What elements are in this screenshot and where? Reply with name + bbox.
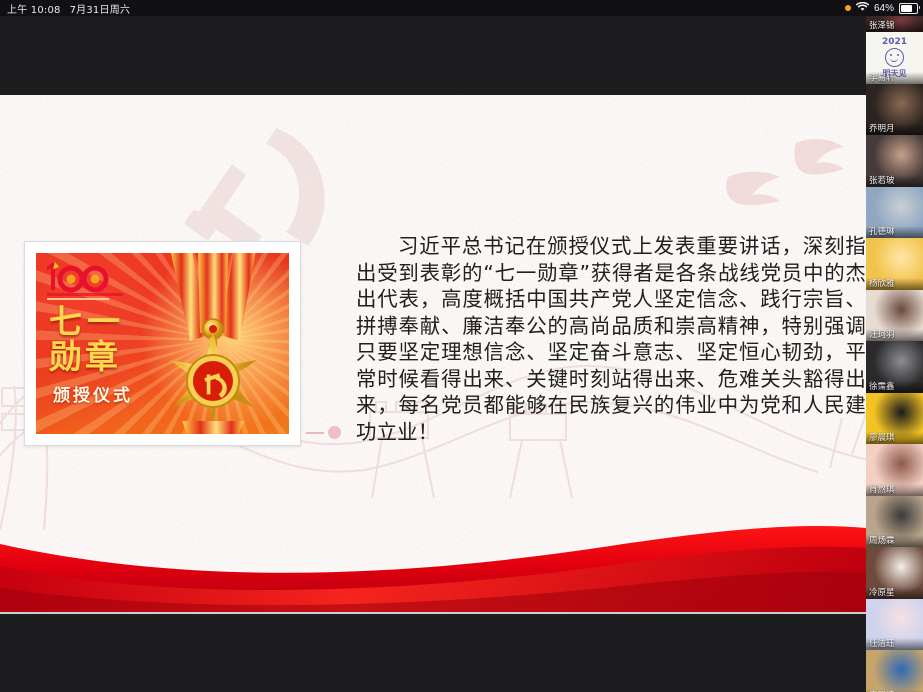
dove-watermark [676, 133, 856, 223]
participant-tile[interactable]: 2021明天见李易轩 [866, 32, 923, 84]
status-bar-right: 64% [845, 2, 923, 15]
participant-thumbnail-rail[interactable]: 张泽锦2021明天见李易轩乔明月张若玻孔德琳杨欣雅汪珂羽徐霈鑫廖晨琪肖熬琪周炀霖… [866, 16, 923, 692]
july-first-medal-poster: 七一 勋章 颁授仪式 [36, 253, 289, 434]
participant-name-label: 李易轩 [866, 72, 923, 84]
participant-name-label: 周炀霖 [866, 535, 923, 547]
shared-screen-stage: 七一 勋章 颁授仪式 [0, 16, 866, 692]
status-bar: 上午 10:08 7月31日周六 64% [0, 0, 923, 16]
avatar-year-label: 2021 [882, 37, 907, 47]
red-ribbon-graphic [0, 492, 866, 612]
participant-name-label: 汪珂羽 [866, 329, 923, 341]
bullet-leader-line [306, 432, 324, 434]
slide-image-card: 七一 勋章 颁授仪式 [24, 241, 301, 446]
participant-video-frame [866, 650, 923, 692]
participant-name-label: 徐霈鑫 [866, 381, 923, 393]
slide-body-text: 习近平总书记在颁授仪式上发表重要讲话，深刻指出受到表彰的“七一勋章”获得者是各条… [356, 233, 866, 445]
participant-name-label: 孔德琳 [866, 226, 923, 238]
clock-date: 7月31日周六 [70, 1, 131, 16]
participant-tile[interactable]: 任洁珏 [866, 599, 923, 651]
participant-name-label: 廖晨琪 [866, 432, 923, 444]
smiley-face-icon [885, 48, 904, 67]
participant-tile[interactable]: 孔德琳 [866, 187, 923, 239]
participant-tile[interactable]: 汪珂羽 [866, 290, 923, 342]
participant-tile[interactable]: 肖熬琪 [866, 444, 923, 496]
screen-share-meeting-view: 上午 10:08 7月31日周六 64% [0, 0, 923, 692]
status-bar-left: 上午 10:08 7月31日周六 [0, 1, 130, 16]
participant-name-label: 乔明月 [866, 123, 923, 135]
clock-time: 上午 10:08 [7, 1, 61, 16]
participant-name-label: 张若玻 [866, 175, 923, 187]
cpc-100-anniversary-logo [45, 260, 133, 304]
poster-title: 七一 勋章 [49, 305, 125, 373]
poster-title-line1: 七一 [49, 305, 125, 339]
participant-tile[interactable]: 张若玻 [866, 135, 923, 187]
wifi-icon [856, 2, 869, 15]
battery-icon [899, 3, 918, 14]
medal-graphic [148, 253, 278, 434]
participant-tile[interactable]: 乔明月 [866, 84, 923, 136]
poster-subtitle: 颁授仪式 [53, 381, 133, 406]
presentation-slide: 七一 勋章 颁授仪式 [0, 95, 866, 614]
participant-name-label: 张泽锦 [866, 20, 923, 32]
participant-name-label: 杨欣雅 [866, 278, 923, 290]
participant-name-label: 肖熬琪 [866, 484, 923, 496]
participant-tile[interactable]: 杨欣雅 [866, 238, 923, 290]
participant-tile[interactable]: 徐霈鑫 [866, 341, 923, 393]
bullet-dot-icon [328, 426, 341, 439]
battery-percent-label: 64% [874, 3, 894, 14]
poster-title-line2: 勋章 [49, 340, 125, 374]
participant-name-label: 冷原星 [866, 587, 923, 599]
participant-tile[interactable]: 席照滨 [866, 650, 923, 692]
participant-name-label: 任洁珏 [866, 638, 923, 650]
participant-tile[interactable]: 张泽锦 [866, 16, 923, 32]
participant-tile[interactable]: 冷原星 [866, 547, 923, 599]
participant-tile[interactable]: 廖晨琪 [866, 393, 923, 445]
participant-tile[interactable]: 周炀霖 [866, 496, 923, 548]
record-dot-icon [845, 5, 851, 11]
